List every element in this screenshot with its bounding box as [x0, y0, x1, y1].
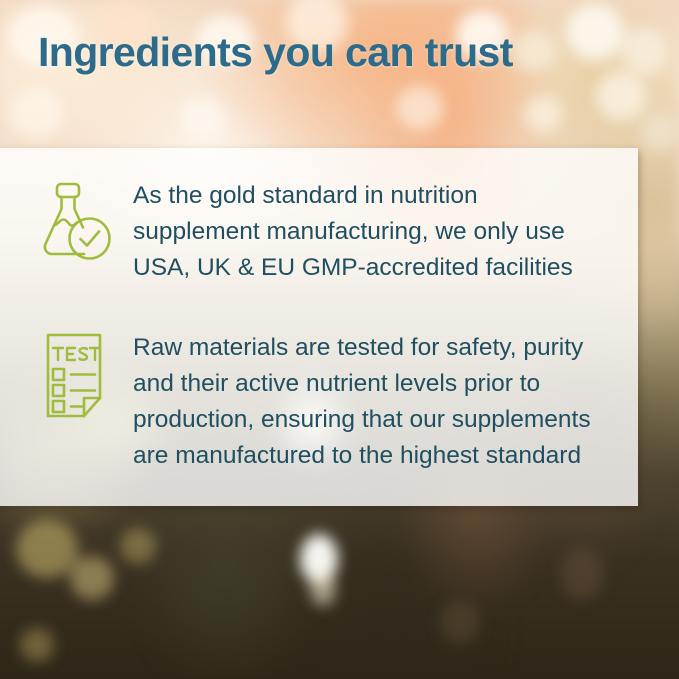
test-document-icon [38, 330, 116, 420]
feature-line: USA, UK & EU GMP-accredited facilities [133, 250, 573, 286]
flask-check-icon-svg [40, 180, 114, 264]
page-title: Ingredients you can trust [38, 29, 513, 76]
feature-line: production, ensuring that our supplement… [133, 402, 591, 438]
feature-item-testing: Raw materials are tested for safety, pur… [38, 330, 591, 474]
feature-text-gmp: As the gold standard in nutrition supple… [133, 178, 573, 286]
feature-line: As the gold standard in nutrition [133, 178, 573, 214]
feature-line: supplement manufacturing, we only use [133, 214, 573, 250]
feature-line: are manufactured to the highest standard [133, 438, 591, 474]
feature-item-gmp: As the gold standard in nutrition supple… [38, 178, 573, 286]
feature-text-testing: Raw materials are tested for safety, pur… [133, 330, 591, 474]
banner-image: Ingredients you can trust [0, 0, 679, 679]
test-document-icon-svg [42, 332, 112, 420]
feature-line: and their active nutrient levels prior t… [133, 366, 591, 402]
test-icon-label [53, 348, 100, 360]
feature-line: Raw materials are tested for safety, pur… [133, 330, 591, 366]
flask-check-icon [38, 178, 116, 264]
